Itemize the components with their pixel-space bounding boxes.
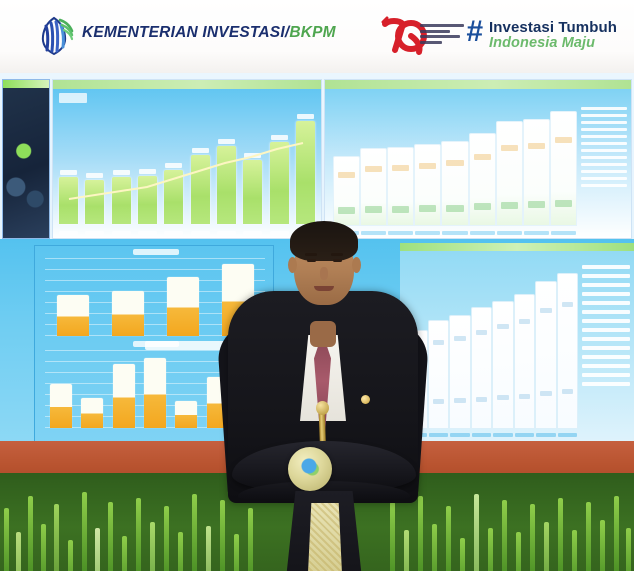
chart-title-bar (325, 80, 631, 89)
chart-lower-right-growth (400, 243, 634, 443)
ministry-name-main: KEMENTERIAN INVESTASI/ (82, 24, 289, 41)
chart-legend-list (581, 107, 627, 226)
chart-title-bar (400, 243, 634, 251)
chart-legend-list (582, 265, 630, 429)
satellite-map-image (3, 88, 49, 238)
podium (232, 441, 416, 571)
press-conference-photo (0, 73, 634, 571)
podium-front-panel (306, 503, 344, 571)
hashtag-icon: # (466, 17, 483, 47)
slogan-line-1: Investasi Tumbuh (489, 19, 617, 36)
bkpm-banyan-tree-logo (30, 14, 78, 58)
chart-axis-label (59, 93, 87, 103)
chart-bars (406, 267, 578, 429)
lapel-pin-icon (361, 395, 370, 404)
hair (290, 221, 358, 261)
dashboard-map-panel (2, 79, 50, 239)
screenshot-root: KEMENTERIAN INVESTASI/BKPM HUT KEMERDEKA… (0, 0, 634, 571)
slogan-line-2: Indonesia Maju (489, 35, 595, 51)
podium-emblem-icon (288, 447, 332, 491)
header-banner: KEMENTERIAN INVESTASI/BKPM HUT KEMERDEKA… (0, 0, 634, 73)
ministry-name-accent: BKPM (289, 24, 335, 41)
chart-title-bar (53, 80, 321, 89)
ministry-name: KEMENTERIAN INVESTASI/BKPM (82, 24, 336, 42)
microphone-icon (316, 401, 329, 415)
anniversary-caption: HUT KEMERDEKAAN REPUBLIK INDONESIA KE-79 (420, 24, 468, 50)
